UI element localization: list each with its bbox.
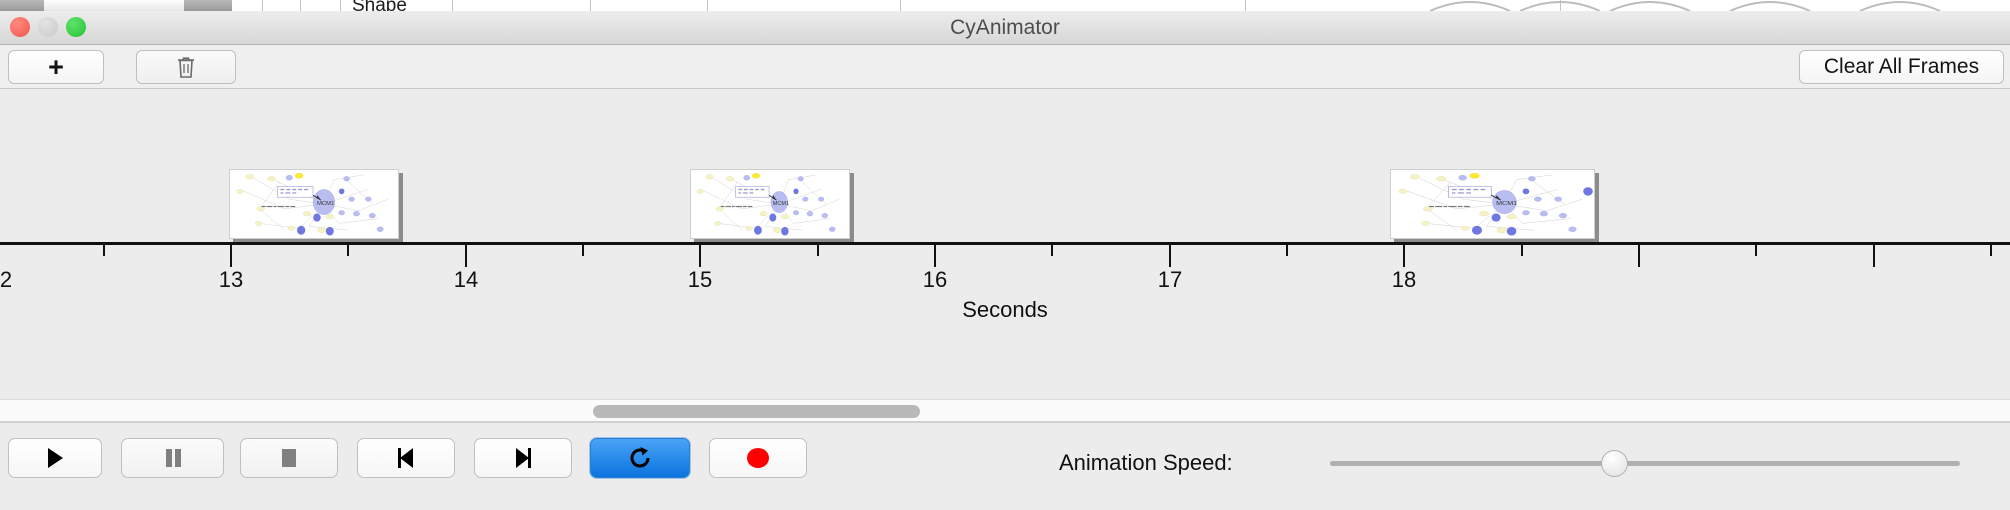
stop-button[interactable] bbox=[240, 438, 338, 478]
axis-tick-major bbox=[230, 245, 232, 267]
animation-speed-slider-thumb[interactable] bbox=[1601, 450, 1628, 477]
axis-tick-minor bbox=[1051, 245, 1053, 256]
frame-thumbnail-1[interactable]: MCM1 bbox=[229, 169, 399, 239]
axis-tick-minor bbox=[103, 245, 105, 256]
frame-image: MCM1 bbox=[1390, 169, 1595, 239]
network-graph-icon: MCM1 bbox=[691, 170, 849, 238]
background-window-label: Shape bbox=[352, 0, 407, 11]
play-button[interactable] bbox=[8, 438, 102, 478]
axis-tick-major bbox=[1169, 245, 1171, 267]
axis-tick-label: 15 bbox=[688, 267, 712, 293]
window-title: CyAnimator bbox=[0, 11, 2010, 45]
svg-text:MCM1: MCM1 bbox=[773, 201, 789, 207]
frame-thumbnail-2[interactable]: MCM1 bbox=[690, 169, 850, 239]
play-icon bbox=[44, 446, 66, 470]
background-curve-decoration bbox=[1430, 0, 1990, 11]
axis-tick-label: 17 bbox=[1158, 267, 1182, 293]
axis-tick-major bbox=[1403, 245, 1405, 267]
axis-tick-minor bbox=[1286, 245, 1288, 256]
network-graph-icon: MCM1 bbox=[230, 170, 398, 238]
timeline-axis bbox=[0, 242, 2010, 245]
previous-frame-button[interactable] bbox=[357, 438, 455, 478]
axis-tick-minor bbox=[817, 245, 819, 256]
axis-tick-minor bbox=[347, 245, 349, 256]
axis-tick-major bbox=[934, 245, 936, 267]
loop-refresh-icon bbox=[627, 445, 653, 471]
svg-text:MCM1: MCM1 bbox=[317, 201, 334, 207]
timeline-scrollbar[interactable] bbox=[0, 399, 2010, 422]
frame-image: MCM1 bbox=[690, 169, 850, 239]
clear-all-frames-button[interactable]: Clear All Frames bbox=[1799, 50, 2004, 84]
record-button[interactable] bbox=[709, 438, 807, 478]
axis-tick-minor bbox=[582, 245, 584, 256]
svg-text:MCM1: MCM1 bbox=[1496, 201, 1517, 207]
network-graph-icon: MCM1 bbox=[1391, 170, 1594, 238]
title-bar[interactable]: CyAnimator bbox=[0, 11, 2010, 45]
axis-title: Seconds bbox=[0, 297, 2010, 323]
delete-frame-button[interactable] bbox=[136, 50, 236, 84]
scrollbar-thumb[interactable] bbox=[593, 405, 920, 418]
axis-tick-minor bbox=[1755, 245, 1757, 256]
axis-tick-major bbox=[465, 245, 467, 267]
axis-tick-minor bbox=[1521, 245, 1523, 256]
skip-next-icon bbox=[512, 446, 534, 470]
animation-speed-label: Animation Speed: bbox=[1059, 450, 1233, 476]
axis-tick-minor bbox=[1990, 245, 1992, 256]
axis-tick-label: 16 bbox=[923, 267, 947, 293]
playback-controls: Animation Speed: bbox=[0, 422, 2010, 510]
background-window-strip: Shape bbox=[0, 0, 2010, 11]
axis-tick-major bbox=[1638, 245, 1640, 267]
next-frame-button[interactable] bbox=[474, 438, 572, 478]
frame-image: MCM1 bbox=[229, 169, 399, 239]
skip-previous-icon bbox=[395, 446, 417, 470]
loop-button[interactable] bbox=[590, 438, 690, 478]
frame-thumbnail-3[interactable]: MCM1 bbox=[1390, 169, 1595, 239]
clear-all-frames-label: Clear All Frames bbox=[1824, 55, 1979, 79]
add-frame-button[interactable]: + bbox=[8, 50, 104, 84]
pause-button[interactable] bbox=[121, 438, 224, 478]
record-icon bbox=[745, 445, 771, 471]
cyanimator-window: Shape CyAnimator + bbox=[0, 0, 2010, 510]
animation-speed-slider[interactable] bbox=[1330, 461, 1960, 466]
trash-icon bbox=[176, 56, 196, 79]
axis-tick-label: 13 bbox=[219, 267, 243, 293]
pause-icon bbox=[162, 446, 184, 470]
toolbar: + Clear All Frames bbox=[0, 45, 2010, 89]
plus-icon: + bbox=[48, 54, 64, 81]
stop-icon bbox=[279, 447, 299, 469]
axis-tick-major bbox=[1873, 245, 1875, 267]
axis-tick-major bbox=[699, 245, 701, 267]
axis-tick-label: 2 bbox=[0, 267, 12, 293]
axis-tick-label: 14 bbox=[454, 267, 478, 293]
axis-tick-label: 18 bbox=[1392, 267, 1416, 293]
timeline-panel[interactable]: MCM1 bbox=[0, 89, 2010, 399]
